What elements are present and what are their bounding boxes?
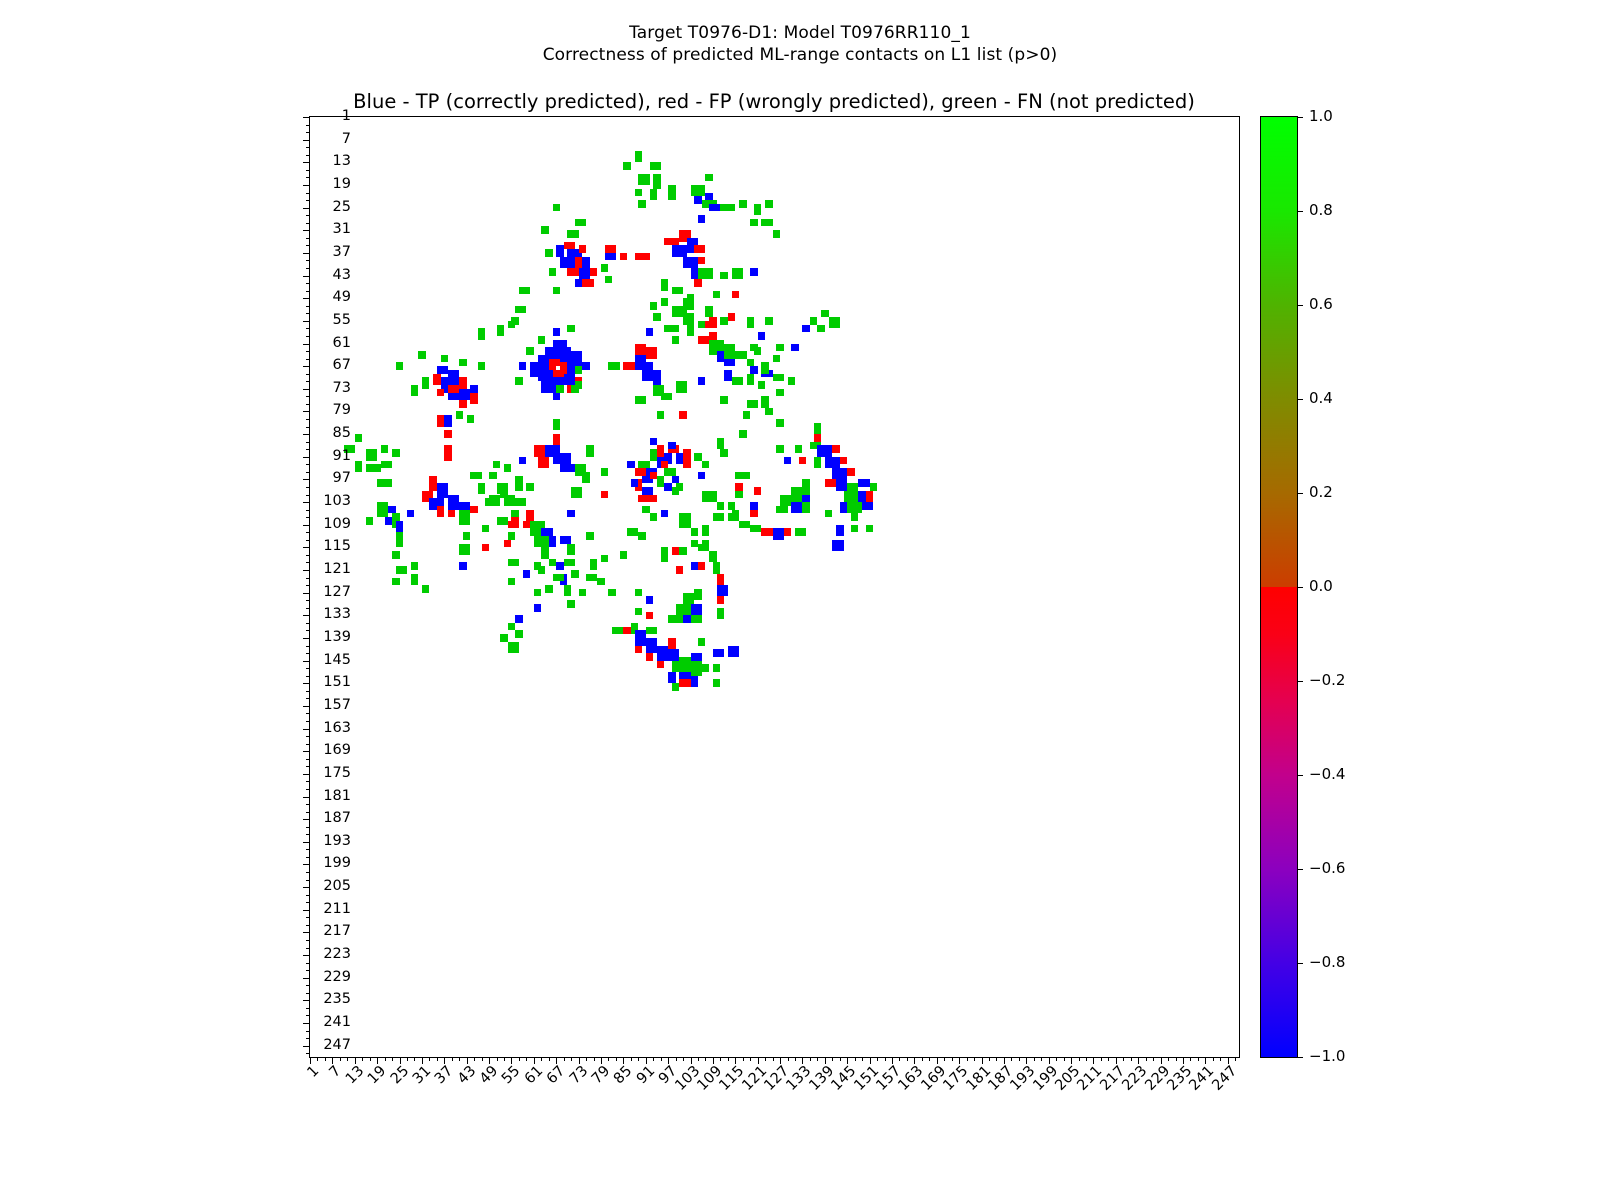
colorbar-tick-label: −0.8 — [1309, 953, 1345, 971]
x-tick-minor — [1079, 1057, 1080, 1061]
contact-cell — [784, 457, 791, 465]
contact-cell — [750, 366, 757, 374]
contact-cell — [478, 362, 485, 370]
contact-cell — [437, 415, 444, 426]
contact-cell — [717, 596, 724, 604]
contact-cell — [780, 495, 791, 506]
contact-cell — [459, 377, 466, 388]
contact-cell — [411, 562, 418, 570]
contact-cell — [694, 196, 701, 204]
x-tick-minor — [452, 1057, 453, 1061]
contact-cell — [668, 615, 683, 623]
x-tick-minor — [407, 1057, 408, 1061]
contact-cell — [508, 521, 519, 529]
y-tick-minor — [306, 940, 310, 941]
contact-cell — [605, 253, 616, 261]
contact-cell — [702, 491, 717, 502]
contact-cell — [664, 468, 675, 476]
contact-cell — [653, 313, 660, 321]
y-tick-minor — [306, 759, 310, 760]
y-tick-major — [303, 230, 310, 231]
x-tick-minor — [1213, 1057, 1214, 1061]
contact-cell — [747, 374, 754, 385]
x-tick-minor — [899, 1057, 900, 1061]
contact-cell — [553, 393, 560, 401]
contact-cell — [549, 268, 556, 276]
y-tick-label: 37 — [333, 244, 351, 260]
y-tick-minor — [306, 880, 310, 881]
colorbar-tick-label: 0.0 — [1309, 577, 1333, 595]
contact-cell — [698, 638, 705, 646]
y-tick-minor — [306, 849, 310, 850]
contact-cell — [575, 279, 582, 287]
figure-title-line-1: Target T0976-D1: Model T0976RR110_1 — [0, 22, 1600, 44]
contact-cell — [549, 359, 556, 370]
y-tick-label: 169 — [323, 742, 351, 758]
y-tick-minor — [306, 442, 310, 443]
x-tick-minor — [549, 1057, 550, 1061]
contact-cell — [489, 495, 500, 506]
contact-cell — [705, 174, 712, 182]
contact-cell — [526, 510, 533, 521]
y-tick-minor — [306, 177, 310, 178]
contact-cell — [650, 302, 657, 310]
y-tick-label: 223 — [323, 946, 351, 962]
contact-cell — [638, 174, 649, 185]
contact-cell — [504, 464, 511, 472]
contact-cell — [511, 559, 518, 567]
y-tick-minor — [306, 857, 310, 858]
contact-cell — [560, 257, 575, 268]
contact-cell — [556, 385, 563, 393]
y-tick-major — [303, 298, 310, 299]
y-tick-label: 157 — [323, 697, 351, 713]
x-tick-minor — [862, 1057, 863, 1061]
contact-cell — [735, 351, 746, 359]
y-tick-label: 205 — [323, 878, 351, 894]
contact-cell — [545, 585, 552, 593]
y-tick-minor — [306, 646, 310, 647]
contact-map-cells — [310, 117, 1239, 1057]
contact-cell — [720, 204, 735, 212]
x-tick-minor — [638, 1057, 639, 1061]
contact-cell — [713, 664, 720, 672]
contact-cell — [459, 389, 470, 400]
contact-cell — [661, 279, 668, 290]
y-tick-minor — [306, 713, 310, 714]
y-tick-major — [303, 547, 310, 548]
contact-cell — [776, 344, 783, 352]
contact-cell — [676, 381, 687, 392]
contact-cell — [862, 502, 873, 510]
x-tick-minor — [571, 1057, 572, 1061]
contact-cell — [579, 245, 586, 253]
y-tick-minor — [306, 374, 310, 375]
x-tick-minor — [840, 1057, 841, 1061]
x-tick-minor — [1108, 1057, 1109, 1061]
contact-cell — [691, 562, 698, 570]
contact-cell — [646, 347, 657, 358]
y-tick-minor — [306, 676, 310, 677]
contact-cell — [470, 393, 477, 404]
contact-cell — [560, 536, 571, 544]
y-tick-minor — [306, 260, 310, 261]
y-tick-label: 229 — [323, 969, 351, 985]
y-tick-minor — [306, 744, 310, 745]
contact-cell — [717, 585, 728, 596]
contact-cell — [825, 479, 836, 487]
colorbar-tick — [1297, 587, 1303, 588]
contact-cell — [534, 604, 541, 612]
contact-cell — [459, 544, 470, 555]
contact-cell — [650, 495, 657, 503]
x-tick-minor — [594, 1057, 595, 1061]
contact-cell — [448, 495, 459, 510]
y-tick-minor — [306, 578, 310, 579]
contact-cell — [765, 200, 772, 208]
x-tick-minor — [1123, 1057, 1124, 1061]
y-tick-label: 85 — [333, 425, 351, 441]
contact-cell — [478, 483, 485, 494]
y-tick-minor — [306, 721, 310, 722]
y-tick-major — [303, 321, 310, 322]
contact-cell — [694, 589, 701, 600]
y-tick-label: 199 — [323, 855, 351, 871]
y-tick-minor — [306, 970, 310, 971]
y-tick-minor — [306, 902, 310, 903]
y-tick-minor — [306, 510, 310, 511]
contact-cell — [500, 634, 507, 642]
contact-cell — [664, 238, 679, 246]
contact-cell — [635, 630, 646, 645]
contact-cell — [396, 362, 403, 370]
contact-cell — [355, 461, 362, 472]
contact-cell — [829, 317, 840, 328]
contact-cell — [657, 445, 664, 456]
y-tick-minor — [306, 155, 310, 156]
y-tick-label: 163 — [323, 720, 351, 736]
contact-cell — [534, 589, 541, 597]
x-tick-minor — [1131, 1057, 1132, 1061]
y-tick-label: 79 — [333, 402, 351, 418]
y-tick-minor — [306, 223, 310, 224]
contact-cell — [691, 615, 702, 623]
x-tick-minor — [743, 1057, 744, 1061]
y-tick-minor — [306, 985, 310, 986]
contact-cell — [717, 438, 724, 449]
y-tick-label: 97 — [333, 470, 351, 486]
x-tick-minor — [967, 1057, 968, 1061]
contact-cell — [791, 487, 802, 502]
contact-cell — [635, 189, 642, 197]
contact-cell — [750, 268, 757, 276]
contact-cell — [601, 264, 608, 272]
contact-cell — [377, 479, 392, 487]
contact-cell — [698, 321, 705, 329]
x-tick-minor — [922, 1057, 923, 1061]
y-tick-minor — [306, 540, 310, 541]
x-tick-minor — [1146, 1057, 1147, 1061]
contact-cell — [657, 661, 664, 669]
contact-cell — [679, 547, 686, 555]
x-tick-minor — [989, 1057, 990, 1061]
contact-cell — [702, 461, 709, 469]
x-tick-minor — [705, 1057, 706, 1061]
contact-cell — [858, 479, 869, 487]
contact-cell — [776, 506, 787, 514]
contact-cell — [661, 461, 668, 469]
y-tick-major — [303, 434, 310, 435]
y-tick-minor — [306, 419, 310, 420]
y-tick-label: 127 — [323, 584, 351, 600]
y-tick-label: 7 — [342, 131, 351, 147]
contact-cell — [553, 287, 560, 295]
contact-cell — [709, 204, 720, 212]
y-tick-minor — [306, 336, 310, 337]
y-tick-minor — [306, 600, 310, 601]
contact-cell — [575, 219, 586, 227]
x-tick-minor — [1235, 1057, 1236, 1061]
contact-cell — [713, 513, 724, 521]
y-tick-major — [303, 366, 310, 367]
x-tick-minor — [526, 1057, 527, 1061]
contact-cell — [433, 374, 440, 385]
x-tick-minor — [855, 1057, 856, 1061]
y-tick-minor — [306, 245, 310, 246]
contact-cell — [586, 445, 593, 456]
y-tick-major — [303, 479, 310, 480]
contact-cell — [463, 532, 470, 540]
x-tick-minor — [929, 1057, 930, 1061]
contact-cell — [720, 449, 727, 457]
contact-cell — [795, 445, 802, 453]
contact-cell — [582, 257, 589, 268]
contact-cell — [650, 162, 661, 170]
contact-cell — [392, 578, 399, 586]
contact-cell — [776, 445, 783, 453]
contact-cell — [724, 344, 735, 359]
y-tick-major — [303, 842, 310, 843]
y-tick-label: 103 — [323, 493, 351, 509]
contact-cell — [747, 359, 754, 367]
x-tick-minor — [832, 1057, 833, 1061]
contact-cell — [717, 502, 724, 510]
y-tick-minor — [306, 555, 310, 556]
y-tick-minor — [306, 781, 310, 782]
contact-cell — [773, 230, 780, 238]
contact-cell — [608, 362, 619, 370]
colorbar-tick — [1297, 1057, 1303, 1058]
y-tick-label: 91 — [333, 448, 351, 464]
contact-cell — [459, 510, 470, 525]
y-tick-major — [303, 774, 310, 775]
contact-cell — [504, 495, 515, 506]
contact-cell — [564, 374, 575, 385]
contact-cell — [448, 370, 459, 385]
contact-cell — [702, 525, 709, 536]
x-tick-minor — [877, 1057, 878, 1061]
contact-cell — [519, 457, 526, 465]
contact-cell — [545, 249, 552, 257]
y-tick-label: 181 — [323, 788, 351, 804]
contact-cell — [571, 570, 578, 578]
contact-cell — [698, 215, 705, 223]
contact-cell — [870, 483, 877, 491]
x-tick-minor — [414, 1057, 415, 1061]
contact-cell — [497, 483, 508, 494]
contact-cell — [534, 536, 549, 547]
colorbar-tick — [1297, 869, 1303, 870]
y-tick-major — [303, 932, 310, 933]
y-tick-label: 193 — [323, 833, 351, 849]
contact-cell — [672, 325, 679, 333]
y-tick-major — [303, 887, 310, 888]
contact-cell — [653, 174, 660, 189]
contact-cell — [482, 525, 489, 533]
colorbar-tick — [1297, 963, 1303, 964]
x-tick-minor — [347, 1057, 348, 1061]
contact-cell — [802, 502, 809, 513]
contact-cell — [646, 328, 653, 336]
contact-cell — [564, 559, 575, 567]
contact-cell — [635, 151, 642, 162]
contact-cell — [422, 377, 429, 385]
contact-cell — [579, 589, 586, 597]
colorbar-gradient — [1261, 117, 1297, 1057]
contact-cell — [553, 574, 564, 582]
contact-cell — [717, 574, 724, 585]
contact-cell — [508, 623, 515, 631]
contact-cell — [713, 562, 720, 573]
y-tick-minor — [306, 789, 310, 790]
y-tick-label: 109 — [323, 516, 351, 532]
contact-cell — [866, 491, 873, 502]
contact-cell — [851, 513, 858, 521]
y-tick-major — [303, 253, 310, 254]
contact-cell — [739, 200, 746, 208]
contact-cell — [437, 506, 444, 517]
contact-cell — [650, 513, 657, 521]
x-tick-minor — [810, 1057, 811, 1061]
contact-cell — [773, 355, 780, 363]
x-tick-minor — [497, 1057, 498, 1061]
contact-cell — [515, 306, 526, 314]
contact-cell — [683, 615, 690, 623]
contact-cell — [366, 449, 377, 460]
y-tick-major — [303, 797, 310, 798]
x-tick-minor — [482, 1057, 483, 1061]
contact-cell — [679, 657, 690, 672]
contact-cell — [508, 321, 515, 329]
contact-cell — [732, 510, 739, 518]
y-tick-minor — [306, 306, 310, 307]
contact-cell — [642, 487, 653, 495]
contact-cell — [735, 483, 742, 491]
contact-cell — [668, 185, 675, 200]
y-tick-minor — [306, 1015, 310, 1016]
contact-cell — [739, 430, 746, 438]
y-tick-major — [303, 411, 310, 412]
colorbar-tick-label: −0.2 — [1309, 671, 1345, 689]
contact-cell — [691, 268, 698, 279]
y-tick-minor — [306, 653, 310, 654]
contact-cell — [627, 528, 638, 536]
x-tick-minor — [676, 1057, 677, 1061]
contact-cell — [508, 578, 515, 586]
contact-cell — [437, 483, 448, 498]
x-tick-minor — [631, 1057, 632, 1061]
contact-cell — [493, 461, 500, 469]
colorbar-tick — [1297, 399, 1303, 400]
contact-cell — [668, 649, 679, 660]
contact-cell — [601, 555, 608, 563]
y-tick-major — [303, 683, 310, 684]
x-tick-minor — [683, 1057, 684, 1061]
contact-cell — [773, 528, 784, 539]
contact-cell — [698, 562, 705, 570]
contact-cell — [575, 381, 582, 389]
y-tick-major — [303, 978, 310, 979]
y-tick-minor — [306, 404, 310, 405]
y-tick-minor — [306, 834, 310, 835]
contact-cell — [840, 502, 847, 513]
contact-cell — [750, 219, 757, 227]
contact-cell — [411, 385, 418, 396]
contact-cell — [515, 377, 522, 385]
contact-cell — [564, 242, 575, 250]
colorbar-tick-label: −1.0 — [1309, 1047, 1345, 1065]
contact-cell — [638, 495, 649, 503]
y-tick-label: 73 — [333, 380, 351, 396]
y-tick-minor — [306, 698, 310, 699]
y-tick-major — [303, 208, 310, 209]
contact-cell — [691, 540, 698, 548]
contact-cell — [765, 317, 772, 325]
contact-cell — [691, 661, 702, 676]
contact-cell — [612, 627, 623, 635]
y-tick-minor — [306, 1008, 310, 1009]
y-tick-label: 175 — [323, 765, 351, 781]
y-tick-minor — [306, 948, 310, 949]
contact-cell — [705, 306, 712, 317]
contact-cell — [754, 347, 761, 355]
contact-cell — [728, 502, 735, 510]
contact-cell — [866, 525, 873, 533]
contact-cell — [679, 679, 690, 687]
x-tick-minor — [1041, 1057, 1042, 1061]
contact-cell — [694, 279, 701, 287]
contact-cell — [549, 536, 556, 547]
y-tick-label: 247 — [323, 1037, 351, 1053]
contact-cell — [788, 377, 795, 385]
y-tick-major — [303, 615, 310, 616]
contact-cell — [698, 377, 705, 385]
x-tick-minor — [392, 1057, 393, 1061]
y-tick-minor — [306, 396, 310, 397]
contact-cell — [661, 393, 672, 401]
contact-cell — [732, 291, 739, 299]
contact-cell — [705, 193, 712, 201]
y-tick-major — [303, 162, 310, 163]
contact-cell — [411, 574, 418, 585]
y-tick-minor — [306, 917, 310, 918]
y-tick-minor — [306, 1031, 310, 1032]
contact-cell — [538, 355, 549, 366]
contact-cell — [601, 491, 608, 499]
contact-cell — [720, 317, 727, 325]
contact-cell — [836, 479, 847, 490]
contact-cell — [489, 472, 496, 480]
